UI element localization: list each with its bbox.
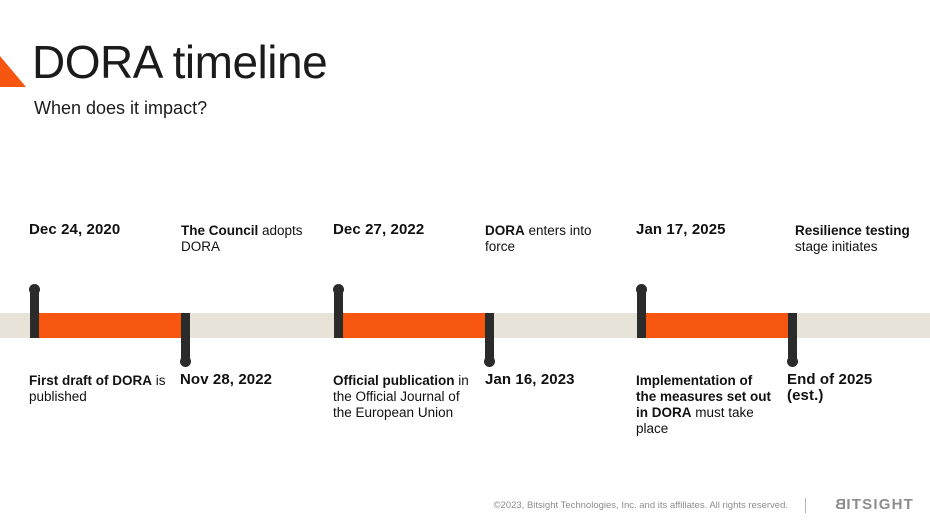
marker-knob <box>180 356 191 367</box>
timeline-marker-6[interactable] <box>788 313 797 366</box>
event-11-description: Resilience testing stage initiates <box>795 223 925 255</box>
bitsight-logo-b: B <box>834 496 846 513</box>
marker-knob <box>636 284 647 295</box>
timeline-marker-4[interactable] <box>485 313 494 366</box>
timeline-segment-3 <box>637 313 793 338</box>
bitsight-logo-rest: ITSIGHT <box>846 496 914 513</box>
copyright-text: ©2023, Bitsight Technologies, Inc. and i… <box>494 500 788 511</box>
footer-divider <box>805 498 806 513</box>
event-2-strong: First draft of DORA <box>29 373 152 388</box>
marker-knob <box>29 284 40 295</box>
event-3-description: The Council adopts DORA <box>181 223 321 255</box>
marker-knob <box>787 356 798 367</box>
event-12-date: End of 2025 (est.) <box>787 372 907 404</box>
event-11-normal: stage initiates <box>795 239 878 254</box>
event-3-strong: The Council <box>181 223 258 238</box>
marker-knob <box>484 356 495 367</box>
timeline-marker-2[interactable] <box>181 313 190 366</box>
timeline-marker-1[interactable] <box>30 285 39 338</box>
event-2-description: First draft of DORA is published <box>29 373 174 405</box>
event-1-date: Dec 24, 2020 <box>29 222 169 238</box>
event-7-description: DORA enters into force <box>485 223 625 255</box>
event-6-description: Official publication in the Official Jou… <box>333 373 478 421</box>
timeline-marker-3[interactable] <box>334 285 343 338</box>
event-5-date: Dec 27, 2022 <box>333 222 478 238</box>
marker-knob <box>333 284 344 295</box>
timeline-marker-5[interactable] <box>637 285 646 338</box>
event-8-date: Jan 16, 2023 <box>485 372 630 388</box>
event-4-date: Nov 28, 2022 <box>180 372 325 388</box>
event-11-strong: Resilience testing <box>795 223 910 238</box>
bitsight-logo: BITSIGHT <box>834 496 914 513</box>
dora-timeline: Dec 24, 2020 The Council adopts DORA Dec… <box>0 0 930 470</box>
page-footer: ©2023, Bitsight Technologies, Inc. and i… <box>0 483 930 523</box>
timeline-segment-2 <box>334 313 490 338</box>
event-10-description: Implementation of the measures set out i… <box>636 373 776 437</box>
event-6-strong: Official publication <box>333 373 455 388</box>
event-9-date: Jan 17, 2025 <box>636 222 781 238</box>
timeline-segment-1 <box>30 313 186 338</box>
event-7-strong: DORA <box>485 223 525 238</box>
